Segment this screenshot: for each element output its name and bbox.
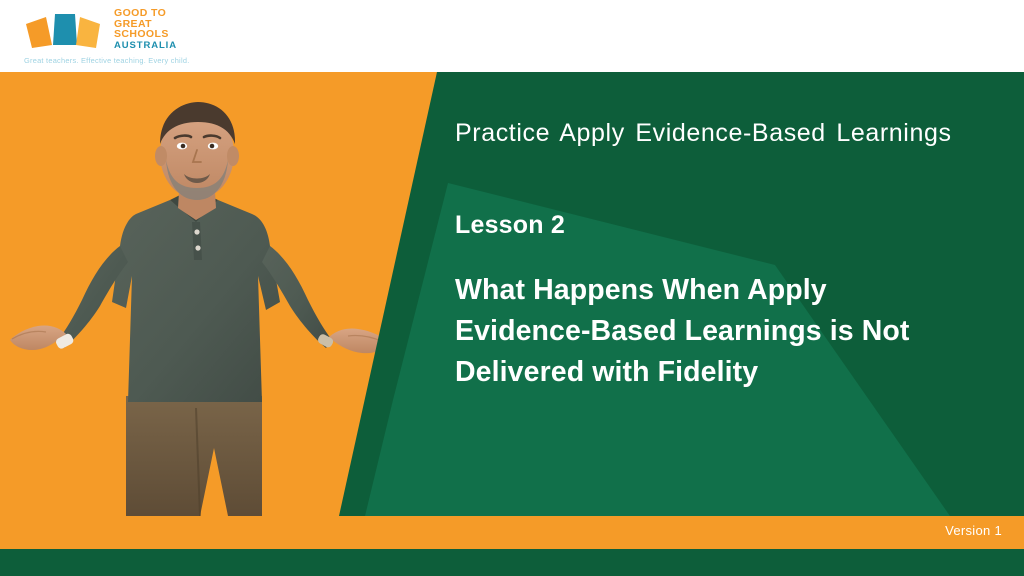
title-block: Practice Apply Evidence-Based Learnings … bbox=[455, 118, 995, 393]
logo-country: AUSTRALIA bbox=[114, 41, 206, 52]
course-title: Practice Apply Evidence-Based Learnings bbox=[455, 118, 995, 149]
header-band: GOOD TO GREAT SCHOOLS AUSTRALIA Great te… bbox=[0, 0, 1024, 72]
slide-title-line-2: Evidence-Based Learnings is Not bbox=[455, 311, 995, 352]
slide-title-line-1: What Happens When Apply bbox=[455, 270, 995, 311]
logo-mark-icon bbox=[22, 8, 108, 50]
slide-root: Practice Apply Evidence-Based Learnings … bbox=[0, 0, 1024, 576]
slide-title-line-3: Delivered with Fidelity bbox=[455, 352, 995, 393]
footer-green-band bbox=[0, 549, 1024, 576]
presenter-photo bbox=[0, 96, 400, 516]
footer-orange-band bbox=[0, 516, 1024, 549]
brand-tagline: Great teachers. Effective teaching. Ever… bbox=[24, 56, 190, 65]
lesson-label: Lesson 2 bbox=[455, 211, 995, 240]
version-label: Version 1 bbox=[945, 523, 1002, 538]
brand-logo: GOOD TO GREAT SCHOOLS AUSTRALIA Great te… bbox=[22, 6, 202, 70]
logo-line-1: GOOD TO bbox=[114, 8, 206, 19]
logo-wordmark: GOOD TO GREAT SCHOOLS AUSTRALIA bbox=[114, 8, 206, 51]
logo-line-3: SCHOOLS bbox=[114, 29, 206, 40]
slide-title: What Happens When Apply Evidence-Based L… bbox=[455, 270, 995, 393]
